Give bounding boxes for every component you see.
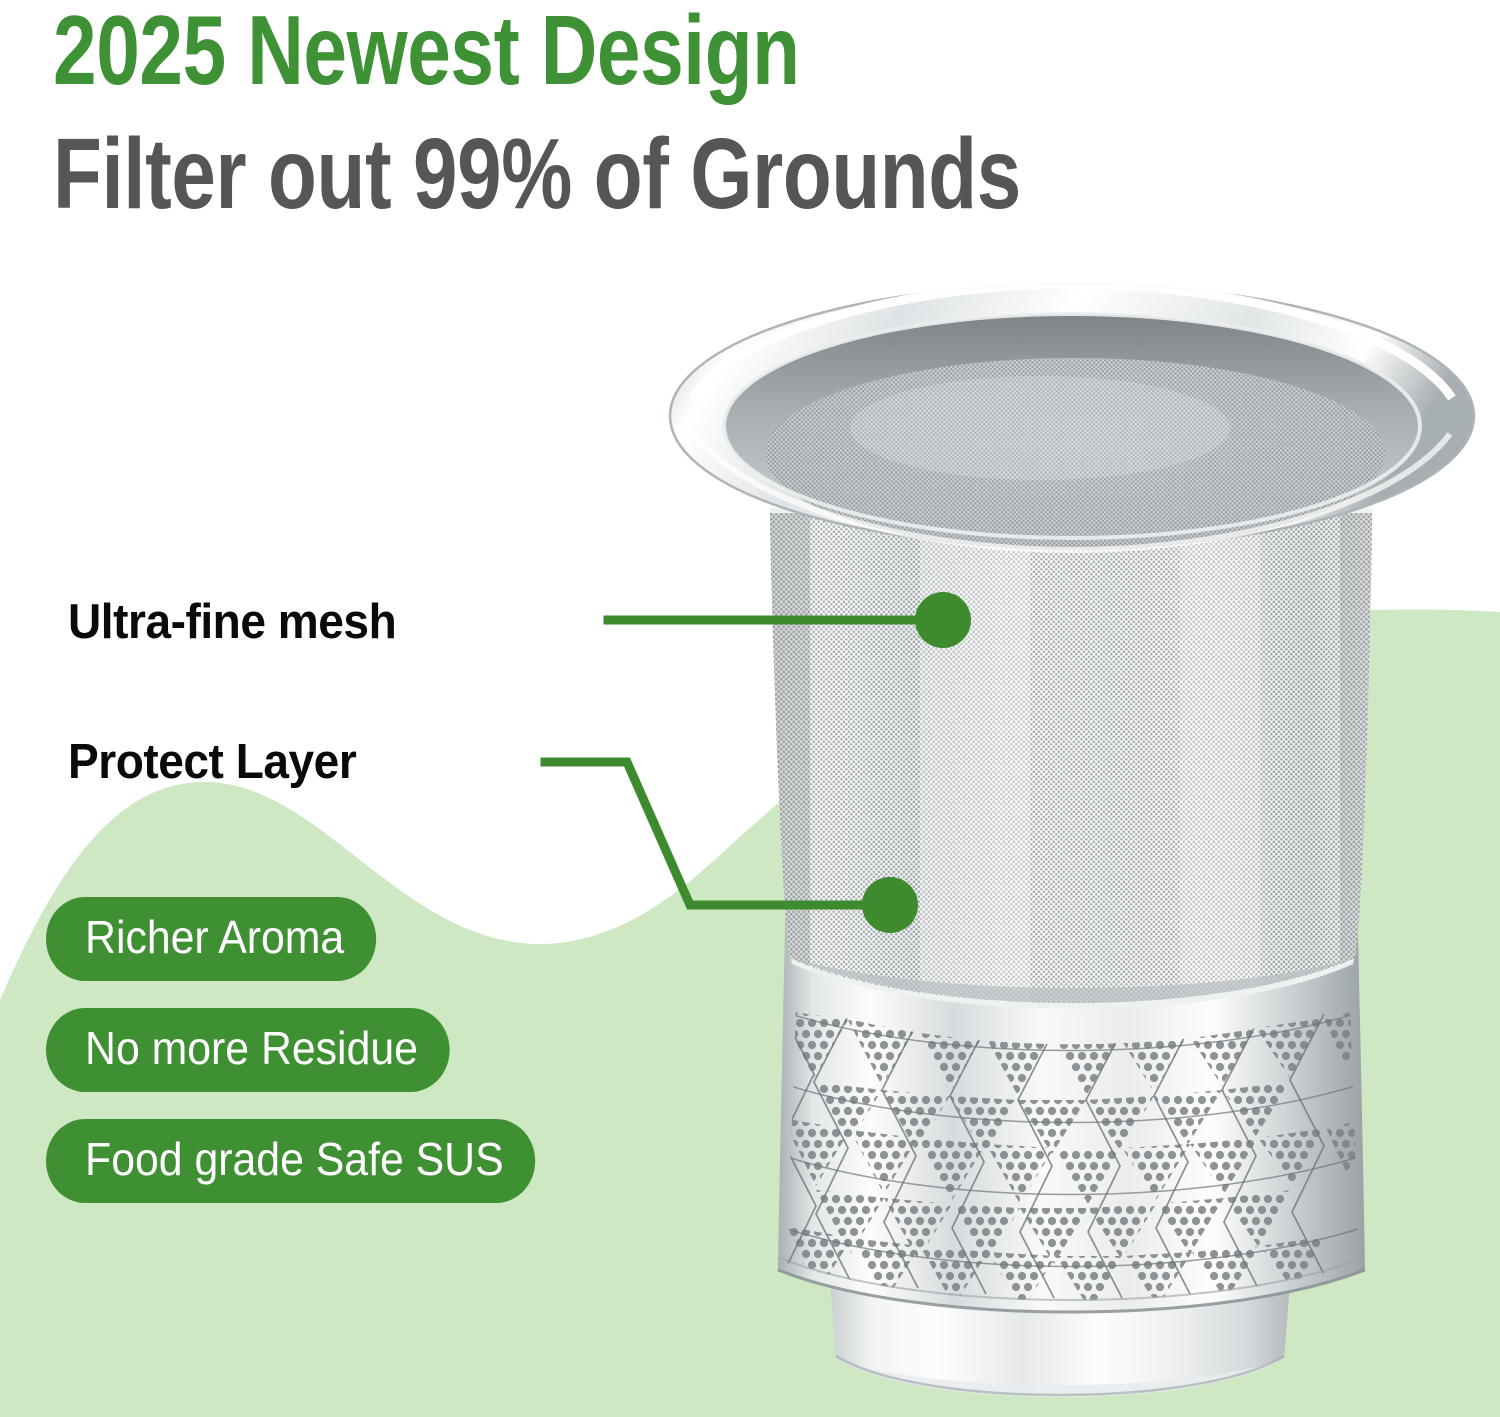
benefit-pill-food-grade-safe-sus: Food grade Safe SUS (46, 1119, 535, 1203)
callout-label-protect-layer: Protect Layer (68, 734, 356, 790)
product-infographic: 2025 Newest Design Filter out 99% of Gro… (0, 0, 1500, 1417)
product-mesh-cylinder (740, 488, 1420, 1048)
benefit-pill-no-more-residue: No more Residue (46, 1008, 450, 1092)
headline-line-2: Filter out 99% of Grounds (53, 119, 1021, 229)
headline-line-1: 2025 Newest Design (53, 0, 800, 104)
benefit-pill-richer-aroma: Richer Aroma (46, 897, 376, 981)
product-image-coffee-filter-basket (620, 258, 1500, 1417)
callout-label-ultra-fine-mesh: Ultra-fine mesh (68, 594, 396, 650)
benefit-pill-list: Richer Aroma No more Residue Food grade … (46, 897, 572, 1203)
